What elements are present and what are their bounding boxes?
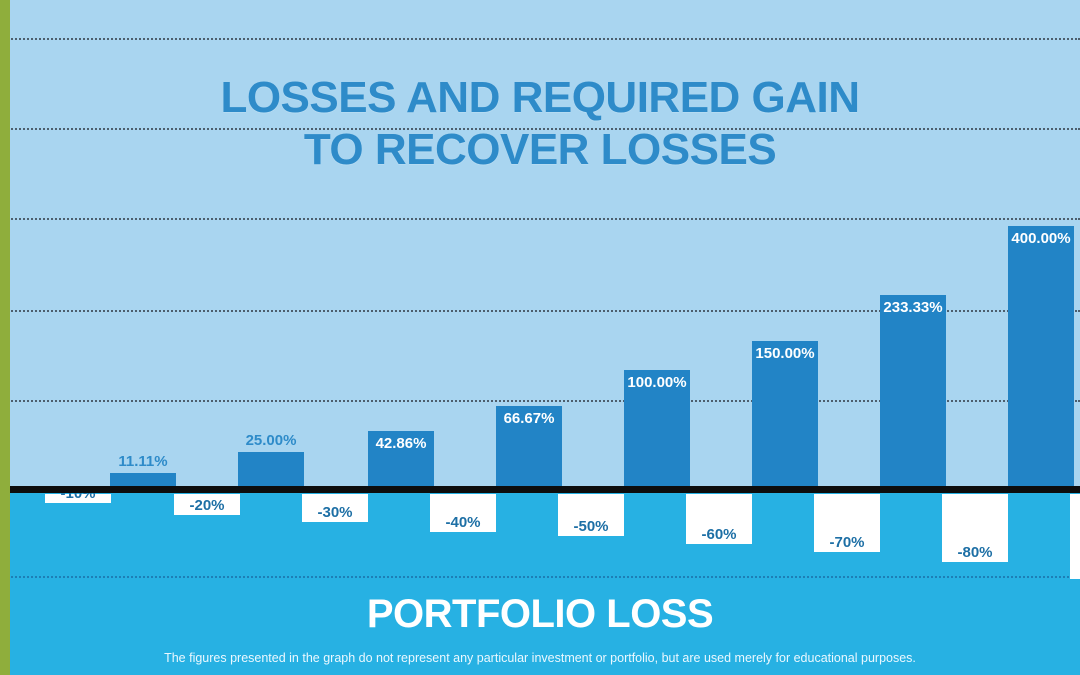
chart-canvas: 11.11%-10%25.00%-20%42.86%-30%66.67%-40%… [0,0,1080,675]
gain-bar [238,452,304,490]
loss-value-label: -60% [666,526,772,543]
loss-value-label: -70% [794,534,900,551]
left-accent-strip [0,0,10,675]
loss-value-label: -20% [154,497,260,514]
gain-value-label: 25.00% [216,432,326,449]
loss-value-label: -80% [922,544,1028,561]
gain-bar [880,295,946,490]
gain-value-label: 400.00% [986,230,1080,247]
chart-footnote: The figures presented in the graph do no… [0,651,1080,665]
gain-value-label: 150.00% [730,345,840,362]
loss-value-label: -30% [282,504,388,521]
zero-axis-line [0,486,1080,493]
gain-value-label: 66.67% [474,410,584,427]
x-axis-title: PORTFOLIO LOSS [0,592,1080,637]
loss-value-label: -90% [1050,561,1080,578]
gain-value-label: 42.86% [346,435,456,452]
gain-bar [1008,226,1074,490]
gain-value-label: 100.00% [602,374,712,391]
chart-title-line1: LOSSES AND REQUIRED GAIN [220,73,859,122]
gain-value-label: 11.11% [88,453,198,470]
chart-title: LOSSES AND REQUIRED GAIN TO RECOVER LOSS… [0,72,1080,176]
gain-bar [752,341,818,490]
loss-value-label: -40% [410,514,516,531]
loss-value-label: -50% [538,518,644,535]
gain-value-label: 233.33% [858,299,968,316]
chart-title-line2: TO RECOVER LOSSES [0,124,1080,176]
